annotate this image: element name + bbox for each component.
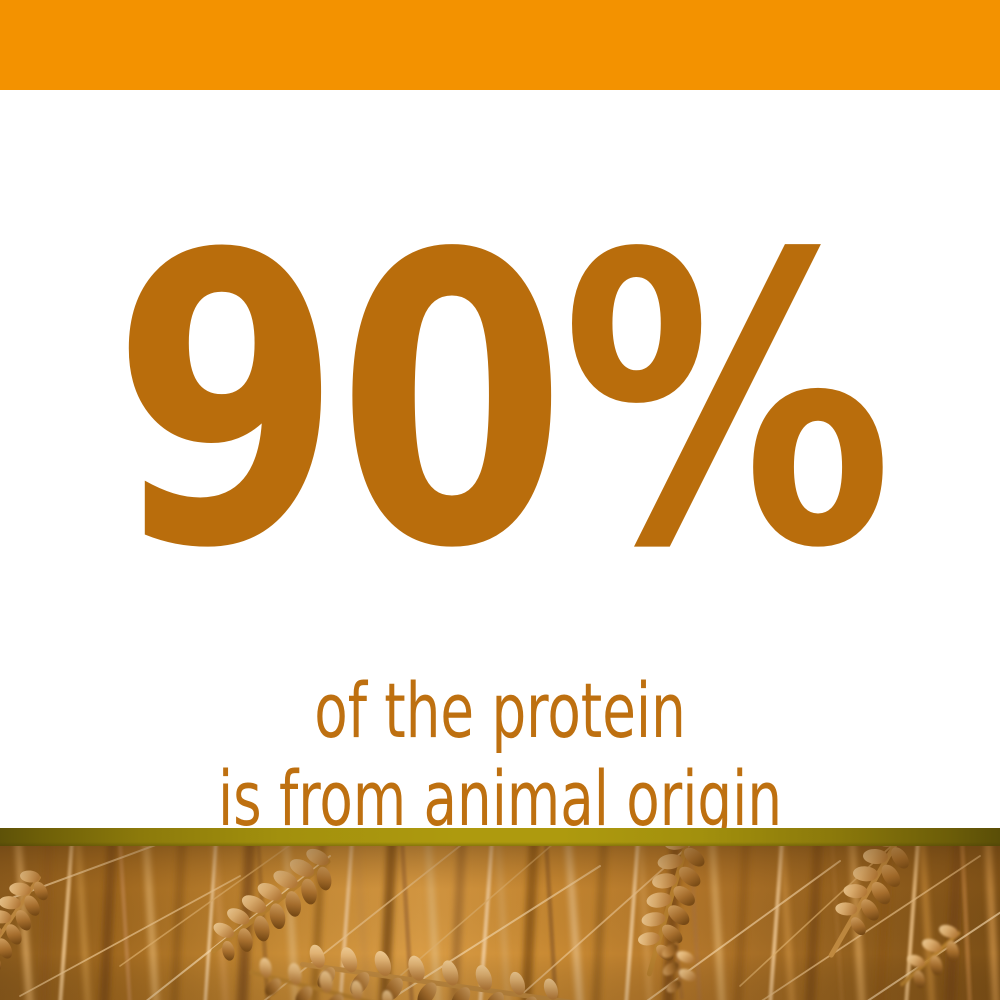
olive-divider-band	[0, 828, 1000, 848]
stat-value: 90%	[112, 240, 888, 568]
white-content-panel: 90% of the protein is from animal origin	[0, 90, 1000, 828]
wheat-field-illustration	[0, 846, 1000, 1000]
top-orange-bar	[0, 0, 1000, 90]
stat-block: 90%	[0, 240, 1000, 568]
infographic-poster: 90% of the protein is from animal origin	[0, 0, 1000, 1000]
subheadline: of the protein is from animal origin	[0, 668, 1000, 844]
photo-vignette	[0, 846, 1000, 1000]
subheadline-line-1: of the protein	[100, 668, 900, 754]
wheat-field-photo	[0, 846, 1000, 1000]
